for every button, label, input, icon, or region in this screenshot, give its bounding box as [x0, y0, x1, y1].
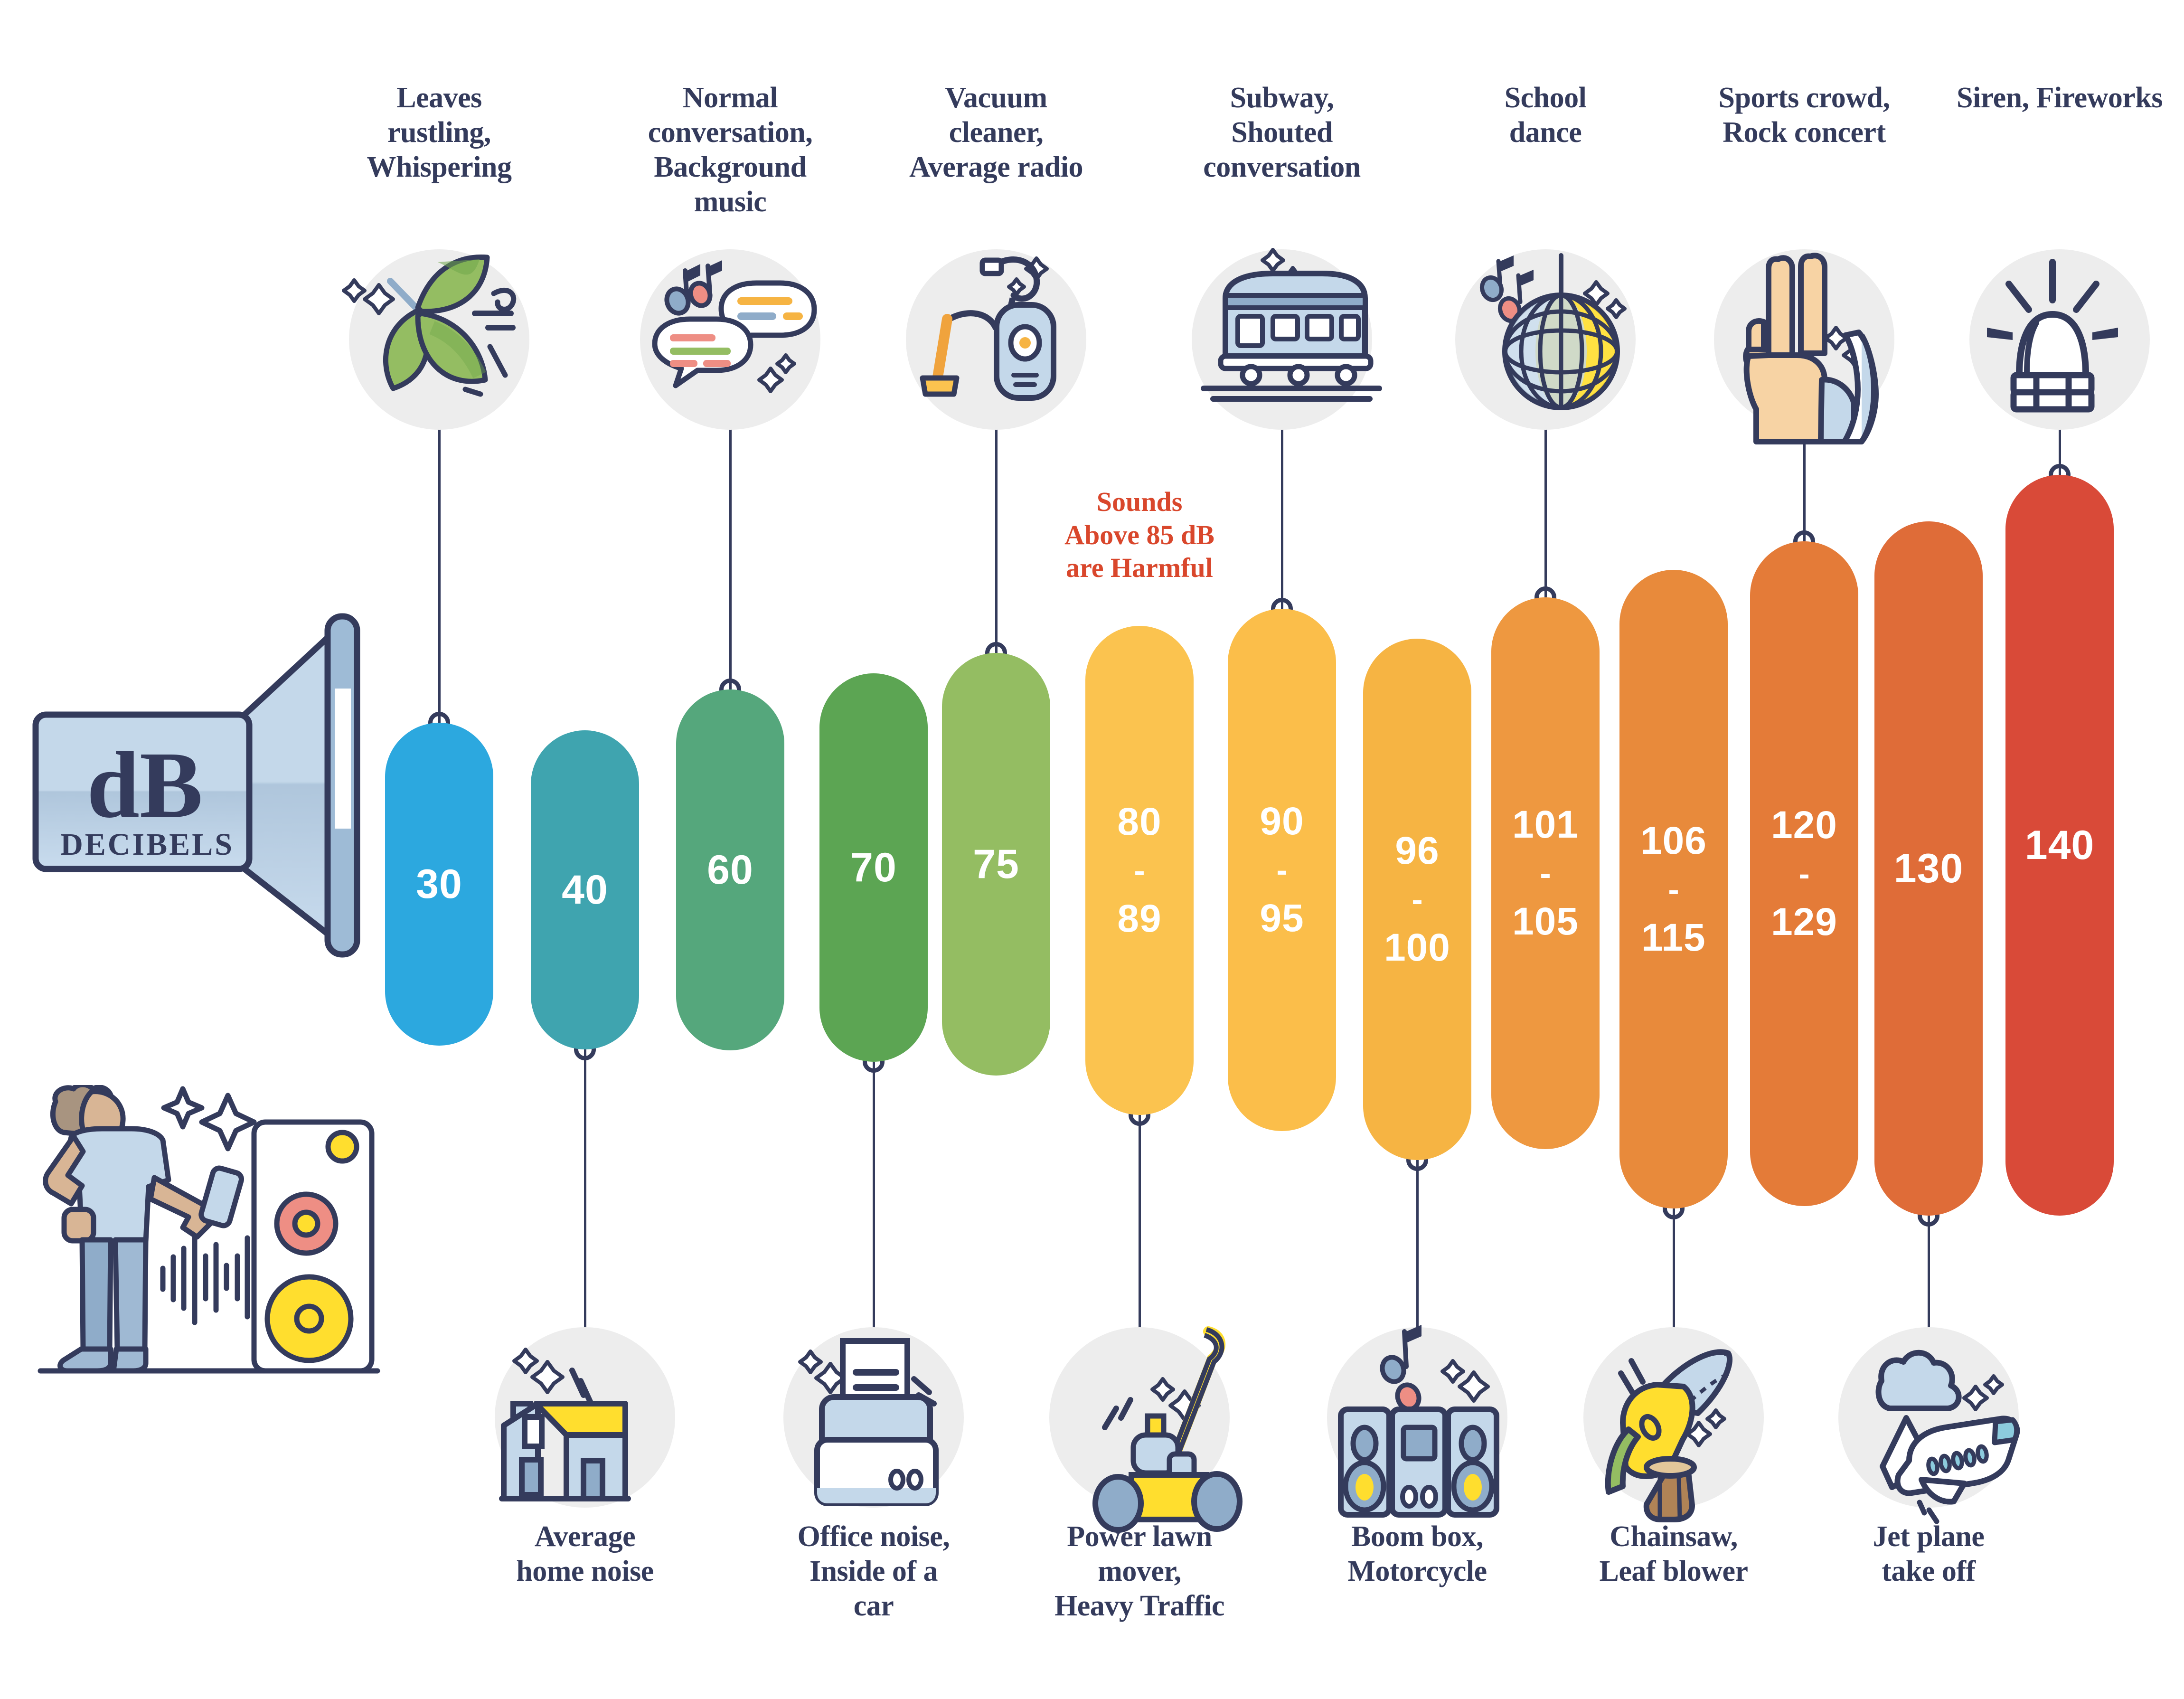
- db-bar[interactable]: 80-89: [1085, 626, 1194, 1115]
- db-bar[interactable]: 40: [531, 730, 639, 1049]
- db-range-dash: -: [1412, 883, 1422, 916]
- db-value: 60: [707, 849, 753, 890]
- db-bar[interactable]: 30: [385, 723, 493, 1046]
- db-value: 130: [1894, 848, 1964, 889]
- decibels-unit-text: DECIBELS: [60, 827, 234, 862]
- megaphone-hand-icon: [1702, 237, 1906, 442]
- db-range-low: 96: [1395, 831, 1439, 870]
- db-range-low: 90: [1260, 802, 1304, 841]
- db-range-high: 100: [1384, 928, 1450, 967]
- db-range-dash: -: [1276, 853, 1287, 887]
- db-range-dash: -: [1134, 854, 1145, 887]
- bar-label-b130: Jet plane take off: [1824, 1520, 2033, 1589]
- db-value: 75: [973, 844, 1019, 885]
- lawn-mower-icon: [1037, 1315, 1242, 1520]
- db-bar[interactable]: 60: [676, 689, 784, 1050]
- disco-ball-icon: [1443, 237, 1647, 442]
- db-range-high: 89: [1117, 899, 1161, 938]
- chainsaw-icon: [1572, 1315, 1776, 1520]
- db-range-dash: -: [1668, 873, 1679, 906]
- bar-label-b90: Subway, Shouted conversation: [1177, 81, 1386, 185]
- db-bar[interactable]: 70: [819, 673, 928, 1062]
- bar-label-b80: Power lawn mover, Heavy Traffic: [1035, 1520, 1244, 1623]
- connector-line: [438, 415, 441, 723]
- connector-line: [1139, 1115, 1141, 1341]
- db-bar[interactable]: 130: [1874, 521, 1983, 1216]
- db-range-low: 120: [1771, 806, 1837, 845]
- db-range-low: 80: [1117, 802, 1161, 841]
- db-range-high: 95: [1260, 899, 1304, 938]
- bar-label-b140: Siren, Fireworks: [1955, 81, 2164, 115]
- printer-icon: [772, 1315, 976, 1520]
- jet-plane-icon: [1826, 1315, 2031, 1520]
- connector-line: [995, 415, 998, 653]
- harmful-warning-text: Sounds Above 85 dB are Harmful: [1016, 485, 1263, 585]
- db-bar[interactable]: 101-105: [1491, 597, 1600, 1149]
- db-bar[interactable]: 140: [2005, 475, 2114, 1216]
- leaf-wind-icon: [337, 237, 541, 442]
- bar-label-b120: Sports crowd, Rock concert: [1700, 81, 1909, 150]
- bar-label-b70: Office noise, Inside of a car: [769, 1520, 978, 1623]
- siren-icon: [1958, 237, 2162, 442]
- boom-box-icon: [1315, 1315, 1519, 1520]
- db-bar[interactable]: 75: [942, 653, 1050, 1076]
- db-bar[interactable]: 96-100: [1363, 639, 1471, 1160]
- db-value: 40: [562, 869, 608, 910]
- db-unit-text: dB: [87, 733, 203, 838]
- db-range-dash: -: [1798, 857, 1809, 890]
- db-range-low: 106: [1640, 821, 1707, 860]
- bar-label-b96: Boom box, Motorcycle: [1313, 1520, 1522, 1589]
- db-range-high: 115: [1641, 918, 1705, 957]
- bar-label-b75: Vacuum cleaner, Average radio: [892, 81, 1101, 185]
- db-range-high: 105: [1512, 902, 1579, 941]
- db-value: 30: [416, 864, 462, 905]
- db-value: 70: [850, 847, 897, 888]
- db-range-low: 101: [1512, 805, 1579, 844]
- person-with-phone-and-speaker-icon: [26, 1085, 387, 1420]
- db-range-high: 129: [1771, 903, 1837, 942]
- connector-line: [729, 415, 732, 689]
- vacuum-cleaner-icon: [894, 237, 1098, 442]
- house-icon: [483, 1315, 687, 1520]
- db-range-dash: -: [1540, 857, 1551, 890]
- infographic-canvas: dB DECIBELS: [0, 0, 2184, 1699]
- speech-bubbles-music-icon: [628, 237, 832, 442]
- subway-train-icon: [1180, 237, 1384, 442]
- bar-label-b30: Leaves rustling, Whispering: [335, 81, 544, 185]
- bar-label-b101: School dance: [1441, 81, 1650, 150]
- connector-line: [873, 1062, 875, 1341]
- db-speaker-icon: dB DECIBELS: [28, 613, 408, 1095]
- bar-label-b106: Chainsaw, Leaf blower: [1569, 1520, 1778, 1589]
- db-bar[interactable]: 90-95: [1228, 609, 1336, 1131]
- bar-label-b40: Average home noise: [480, 1520, 689, 1589]
- db-bar[interactable]: 120-129: [1750, 541, 1858, 1206]
- connector-line: [1281, 415, 1283, 609]
- connector-line: [1544, 415, 1547, 597]
- connector-line: [1416, 1160, 1419, 1341]
- db-bar[interactable]: 106-115: [1619, 570, 1728, 1208]
- connector-line: [584, 1049, 586, 1341]
- db-value: 140: [2025, 825, 2095, 866]
- bar-label-b60: Normal conversation, Background music: [626, 81, 835, 220]
